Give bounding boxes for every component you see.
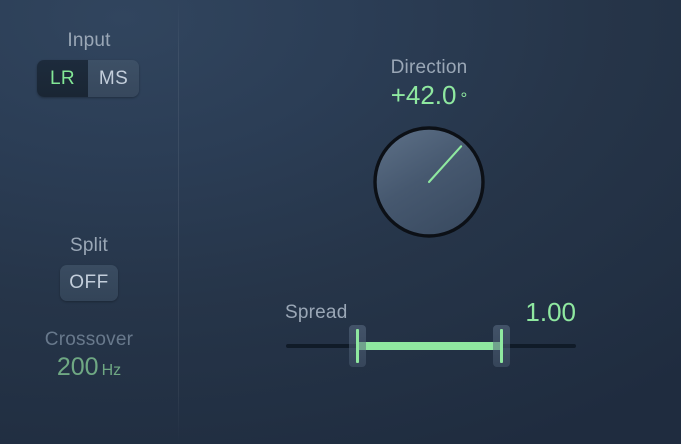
spread-range-slider[interactable] (286, 322, 576, 370)
split-label: Split (0, 235, 178, 257)
spread-slider-fill (357, 342, 501, 350)
spread-handle-left[interactable] (349, 325, 366, 367)
input-mode-lr-segment[interactable]: LR (37, 60, 88, 97)
direction-value-field[interactable]: +42.0° (310, 80, 548, 111)
direction-label: Direction (310, 57, 548, 79)
stereo-spread-plugin-panel: Input LR MS Split OFF Crossover 200Hz Di… (0, 0, 681, 444)
input-mode-toggle[interactable]: LR MS (37, 60, 139, 97)
input-label: Input (0, 30, 178, 52)
spread-label: Spread (285, 302, 347, 324)
input-mode-ms-segment[interactable]: MS (88, 60, 139, 97)
direction-value-unit: ° (460, 89, 467, 108)
direction-value-number: +42.0 (391, 80, 457, 110)
crossover-value-unit: Hz (102, 362, 122, 379)
crossover-value-field[interactable]: 200Hz (0, 353, 178, 382)
direction-knob[interactable] (371, 124, 487, 240)
split-toggle-button[interactable]: OFF (60, 265, 118, 301)
spread-handle-right[interactable] (493, 325, 510, 367)
panel-divider (178, 0, 179, 444)
crossover-label: Crossover (0, 329, 178, 351)
crossover-value-number: 200 (57, 353, 99, 381)
